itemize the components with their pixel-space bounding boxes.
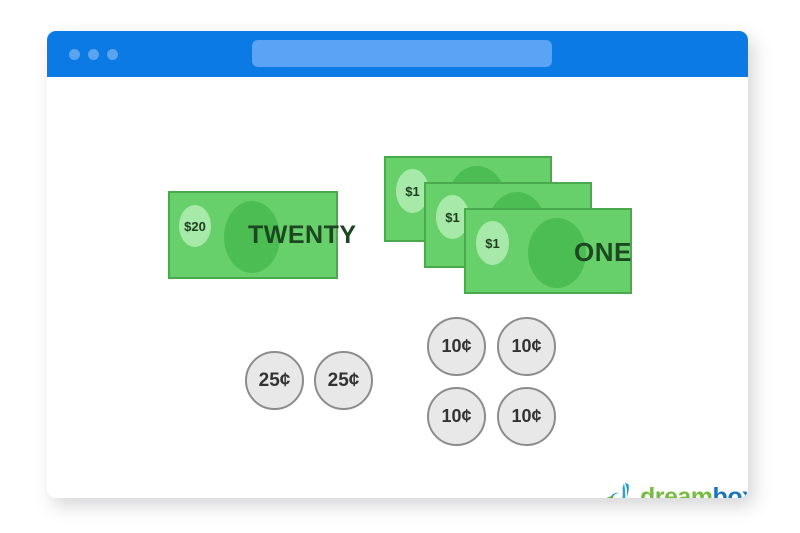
dreambox-d-mark-icon <box>598 481 636 498</box>
coin-value-label: 10¢ <box>441 406 471 427</box>
dime-coin-3[interactable]: 10¢ <box>427 387 486 446</box>
twenty-dollar-bill[interactable]: $20 TWENTY <box>168 191 338 279</box>
coin-value-label: 10¢ <box>441 336 471 357</box>
dreambox-wordmark-dream: dream <box>640 483 713 498</box>
dime-coin-4[interactable]: 10¢ <box>497 387 556 446</box>
one-dollar-bill-3[interactable]: $1 ONE <box>464 208 632 294</box>
activity-canvas: $20 TWENTY $1 $1 <box>47 77 748 498</box>
dreambox-logo: dreambox® By Discovery Education <box>598 477 733 498</box>
screenshot-stage: $20 TWENTY $1 $1 <box>0 0 800 533</box>
dreambox-wordmark-box: box <box>713 483 748 498</box>
bill-word-label: TWENTY <box>248 221 357 250</box>
bill-denomination-badge: $1 <box>476 221 509 265</box>
coin-value-label: 10¢ <box>511 336 541 357</box>
window-dot-close-icon[interactable] <box>69 49 80 60</box>
coin-value-label: 25¢ <box>259 370 291 392</box>
quarter-coin-2[interactable]: 25¢ <box>314 351 373 410</box>
dreambox-wordmark: dreambox® <box>640 483 748 498</box>
bill-denomination-label: $1 <box>445 210 459 225</box>
coin-value-label: 25¢ <box>328 370 360 392</box>
bill-denomination-badge: $20 <box>179 205 211 247</box>
browser-window: $20 TWENTY $1 $1 <box>47 31 748 498</box>
browser-title-bar <box>47 31 748 77</box>
coin-value-label: 10¢ <box>511 406 541 427</box>
bill-denomination-label: $1 <box>485 236 499 251</box>
address-bar-input[interactable] <box>252 40 552 67</box>
dime-coin-1[interactable]: 10¢ <box>427 317 486 376</box>
quarter-coin-1[interactable]: 25¢ <box>245 351 304 410</box>
window-control-dots <box>69 49 118 60</box>
window-dot-minimize-icon[interactable] <box>88 49 99 60</box>
bill-word-label: ONE <box>574 237 632 268</box>
window-dot-maximize-icon[interactable] <box>107 49 118 60</box>
bill-denomination-label: $1 <box>405 184 419 199</box>
bill-denomination-label: $20 <box>184 219 206 234</box>
dime-coin-2[interactable]: 10¢ <box>497 317 556 376</box>
